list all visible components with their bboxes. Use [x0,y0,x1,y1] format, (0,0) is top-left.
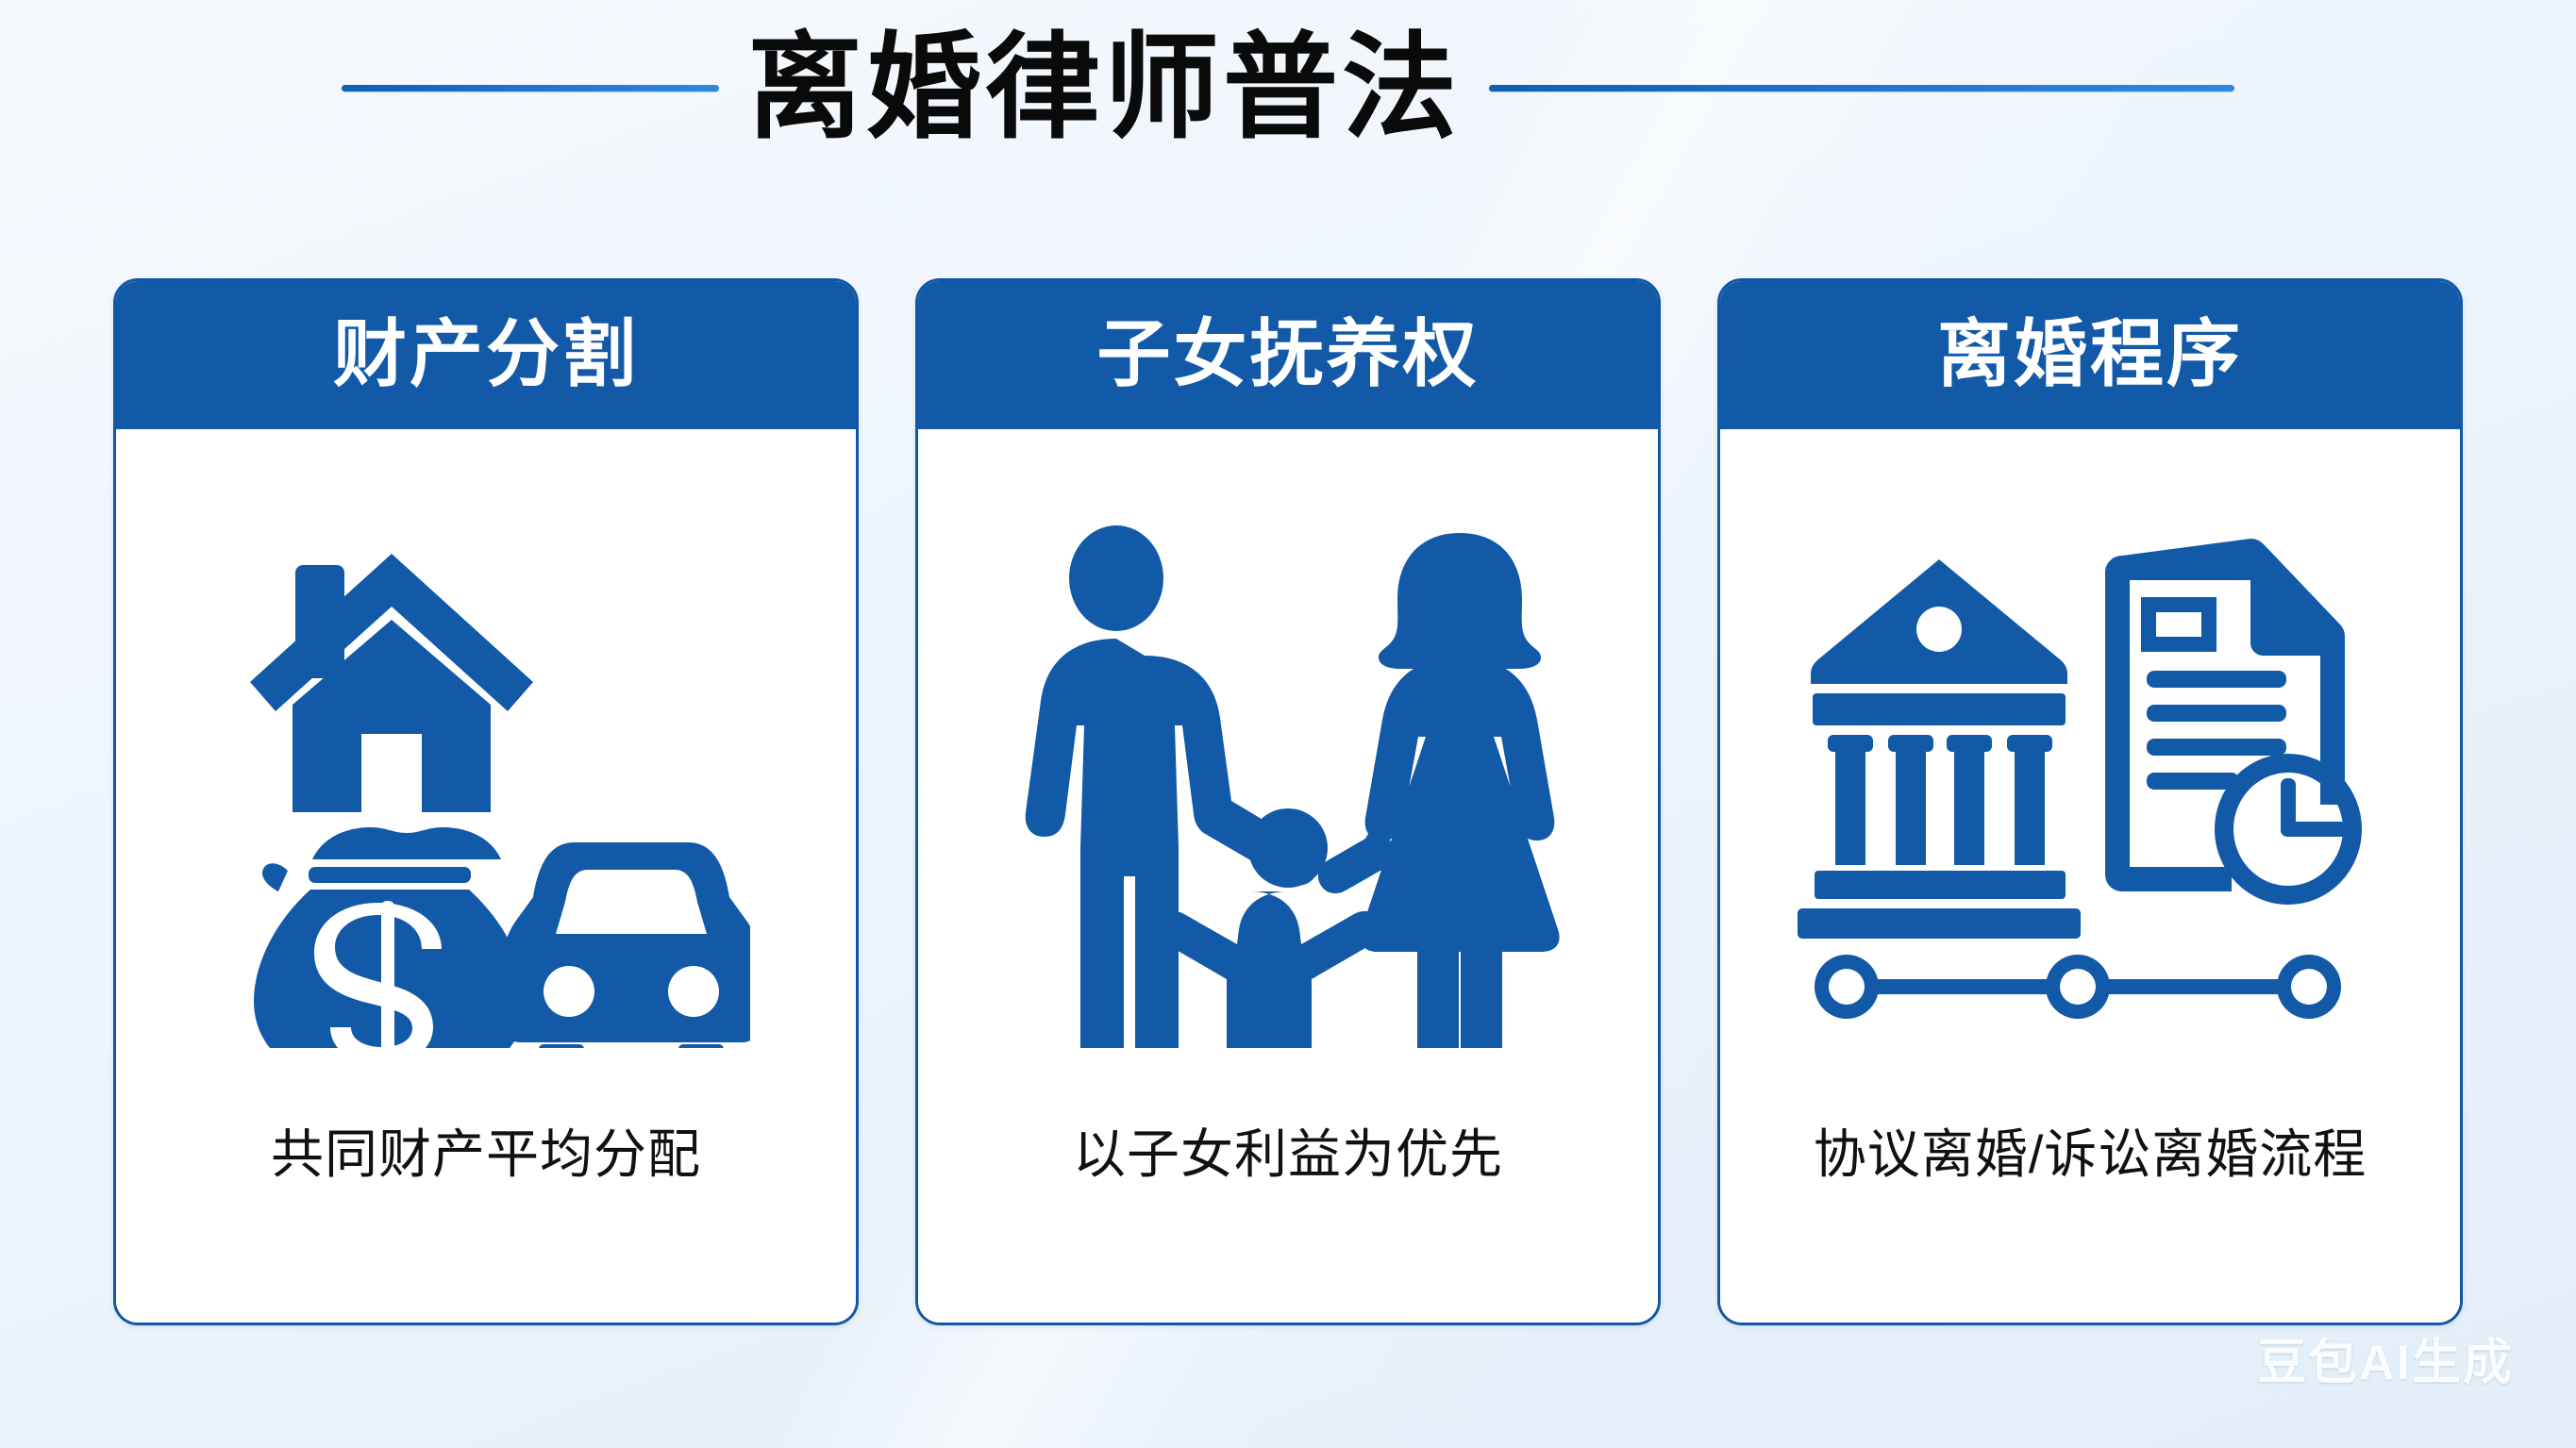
card-caption: 以子女利益为优先 [1073,1128,1503,1323]
card-header: 子女抚养权 [915,278,1661,429]
card-caption: 共同财产平均分配 [271,1128,701,1323]
card-title: 离婚程序 [1937,317,2243,391]
timeline-icon [1815,955,2341,1019]
card-header: 离婚程序 [1717,278,2463,429]
ai-watermark: 豆包AI生成 [2257,1323,2514,1393]
title-rule-right [1489,85,2234,92]
card-divorce-procedure[interactable]: 离婚程序 [1717,278,2463,1325]
card-property-division[interactable]: 财产分割 [113,278,859,1325]
card-grid: 财产分割 [113,278,2463,1325]
card-body: 以子女利益为优先 [918,429,1658,1323]
card-icon-group [1720,439,2460,1128]
card-icon-group [918,439,1658,1128]
title-rule-left [342,85,719,92]
card-title: 财产分割 [333,317,639,391]
card-title: 子女抚养权 [1096,317,1479,391]
title-row: 离婚律师普法 [0,17,2576,158]
child-figure-icon [1157,808,1381,1048]
page-title: 离婚律师普法 [747,30,1461,145]
procedure-icon-set [1798,539,2383,1029]
card-body: 协议离婚/诉讼离婚流程 [1720,429,2460,1323]
card-caption: 协议离婚/诉讼离婚流程 [1814,1128,2367,1323]
property-icon-set [222,520,750,1048]
family-icon-set [1005,520,1571,1048]
card-icon-group [116,439,856,1128]
card-body: 共同财产平均分配 [116,429,856,1323]
mother-figure-icon [1318,533,1560,1048]
house-icon [250,554,533,812]
card-header: 财产分割 [113,278,859,429]
car-icon [503,842,750,1048]
card-child-custody[interactable]: 子女抚养权 [915,278,1661,1325]
document-clock-icon [2105,539,2352,895]
poster-canvas: 离婚律师普法 财产分割 [0,0,2576,1448]
courthouse-icon [1798,559,2081,939]
